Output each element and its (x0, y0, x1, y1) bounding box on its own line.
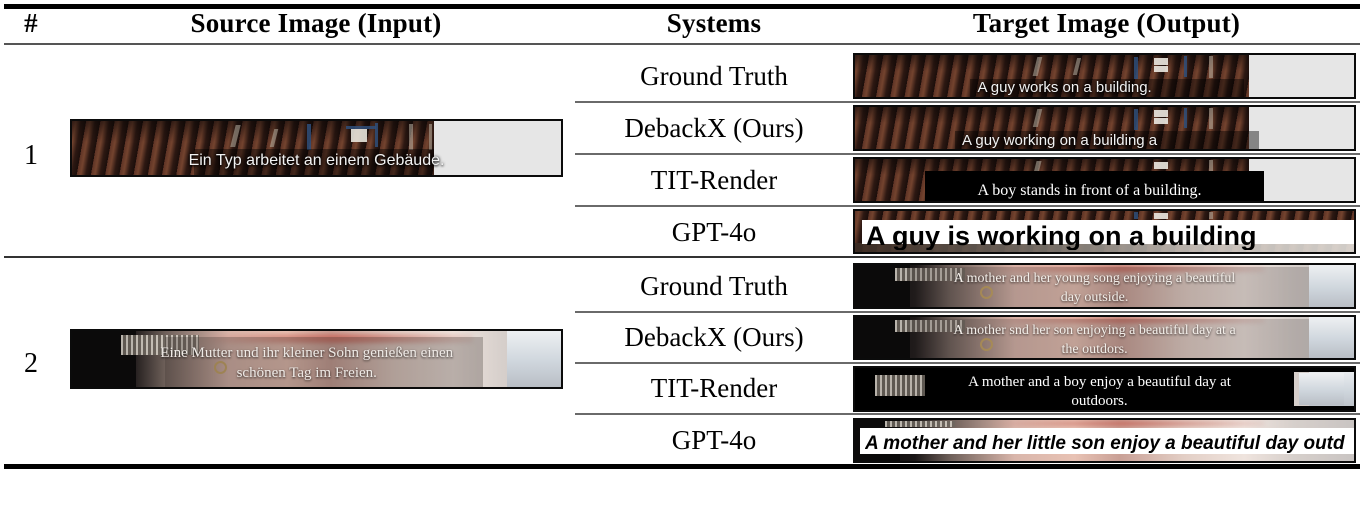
target-caption-row-1-tit-render: A boy stands in front of a building. (853, 181, 1339, 200)
column-header-systems: Systems (575, 4, 853, 42)
column-header-target: Target Image (Output) (853, 4, 1360, 42)
system-label-tit-render: TIT-Render (575, 167, 853, 194)
system-label-ground-truth: Ground Truth (575, 63, 853, 90)
table-header-rule (4, 43, 1360, 45)
scene-beam-blue (1184, 56, 1187, 77)
source-caption-row-2: Eine Mutter und ihr kleiner Sohn genieße… (70, 343, 551, 383)
system-label-tit-render: TIT-Render (575, 375, 853, 402)
row-number: 2 (0, 348, 62, 380)
system-label-ground-truth: Ground Truth (575, 273, 853, 300)
scene-color-streak (985, 421, 1264, 426)
system-divider-r1-1 (575, 101, 1360, 103)
target-image-row-2-gpt-4o: A mother and her little son enjoy a beau… (853, 418, 1356, 463)
caption-banner-top (855, 368, 1354, 372)
target-image-row-1-gpt-4o: A guy is working on a building (853, 209, 1356, 254)
scene-white-box (1154, 213, 1168, 219)
system-divider-r1-2 (575, 153, 1360, 155)
table-row-divider-1 (4, 256, 1360, 258)
target-caption-row-1-ground-truth: A guy works on a building. (853, 79, 1314, 97)
source-image-row-2: Eine Mutter und ihr kleiner Sohn genieße… (70, 329, 563, 389)
system-divider-r2-2 (575, 362, 1360, 364)
scene-white-box (351, 129, 367, 136)
column-header-number: # (0, 4, 62, 42)
target-image-row-1-tit-render: A boy stands in front of a building. (853, 157, 1356, 203)
scene-highlight (1209, 56, 1213, 78)
target-caption-row-2-tit-render: A mother and a boy enjoy a beautiful day… (853, 373, 1349, 411)
scene-white-box (1154, 110, 1168, 117)
scene-highlight (1209, 108, 1213, 129)
scene-beam-blue (307, 124, 311, 150)
target-caption-row-2-gpt-4o: A mother and her little son enjoy a beau… (865, 433, 1354, 454)
target-caption-row-2-ground-truth: A mother and her young song enjoying a b… (853, 269, 1344, 307)
scene-beam-blue (1184, 108, 1187, 128)
source-image-row-1: Ein Typ arbeitet an einem Gebäude. (70, 119, 563, 177)
system-label-gpt-4o: GPT-4o (575, 427, 853, 454)
target-image-row-1-debackx: A guy working on a building a (853, 105, 1356, 151)
scene-highlight (409, 124, 413, 150)
scene-beam-blue (1134, 212, 1138, 219)
scene-beam-blue (1134, 57, 1138, 79)
target-image-row-2-ground-truth: A mother and her young song enjoying a b… (853, 263, 1356, 309)
scene-white-box (1154, 58, 1168, 65)
system-label-debackx: DebackX (Ours) (575, 324, 853, 351)
scene-white-box (1154, 66, 1168, 72)
scene-beam-blue (1134, 109, 1138, 130)
scene-white-box (351, 136, 367, 142)
source-caption-row-1: Ein Typ arbeitet an einem Gebäude. (72, 151, 561, 170)
scene-highlight (1209, 212, 1213, 219)
table-bottom-rule (4, 464, 1360, 469)
target-image-row-2-tit-render: A mother and a boy enjoy a beautiful day… (853, 366, 1356, 412)
row-number: 1 (0, 140, 62, 172)
system-label-debackx: DebackX (Ours) (575, 115, 853, 142)
column-header-source: Source Image (Input) (62, 4, 570, 42)
system-divider-r1-3 (575, 205, 1360, 207)
system-label-gpt-4o: GPT-4o (575, 219, 853, 246)
scene-comb (885, 421, 955, 428)
target-caption-row-2-debackx: A mother snd her son enjoying a beautifu… (853, 321, 1344, 359)
target-caption-row-1-debackx: A guy working on a building a (853, 132, 1309, 150)
target-image-row-1-ground-truth: A guy works on a building. (853, 53, 1356, 99)
scene-highlight (429, 124, 432, 150)
system-divider-r2-1 (575, 311, 1360, 313)
target-image-row-2-debackx: A mother snd her son enjoying a beautifu… (853, 315, 1356, 360)
target-caption-row-1-gpt-4o: A guy is working on a building (866, 222, 1354, 250)
scene-white-box (1154, 162, 1168, 169)
scene-white-box (1154, 118, 1168, 124)
system-divider-r2-3 (575, 413, 1360, 415)
